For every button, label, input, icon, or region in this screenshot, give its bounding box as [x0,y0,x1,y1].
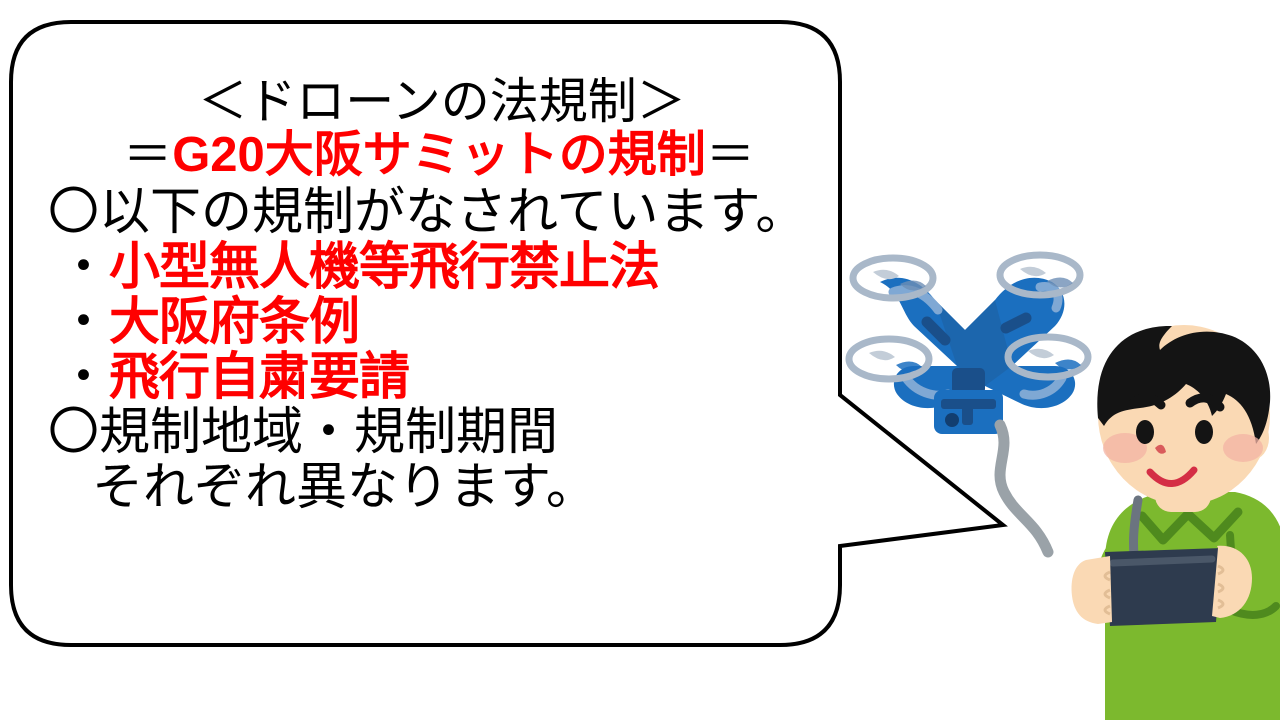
subtitle-highlight: G20大阪サミットの規制 [172,128,706,182]
slide-canvas: ＜ドローンの法規制＞ ＝G20大阪サミットの規制＝ 〇以下の規制がなされています… [0,0,1280,720]
bullet-text-2: 大阪府条例 [109,293,359,350]
bubble-title: ＜ドローンの法規制＞ [44,78,834,127]
bullet-text-1: 小型無人機等飛行禁止法 [109,238,659,295]
bubble-bullet-3: ・飛行自粛要請 [44,351,834,402]
bubble-subtitle: ＝G20大阪サミットの規制＝ [44,131,834,180]
speech-bubble-text: ＜ドローンの法規制＞ ＝G20大阪サミットの規制＝ 〇以下の規制がなされています… [44,78,834,618]
bullet-marker-1: ・ [58,238,109,295]
bubble-intro-line: 〇以下の規制がなされています。 [44,186,834,237]
subtitle-marker-left: ＝ [123,128,172,182]
bullet-text-3: 飛行自粛要請 [109,348,409,405]
subtitle-marker-right: ＝ [706,128,755,182]
bullet-marker-3: ・ [58,348,109,405]
bubble-bullet-1: ・小型無人機等飛行禁止法 [44,241,834,292]
bullet-marker-2: ・ [58,293,109,350]
bubble-bullet-2: ・大阪府条例 [44,296,834,347]
bubble-closing-line-1: 〇規制地域・規制期間 [44,406,834,457]
bubble-closing-line-2: それぞれ異なります。 [44,461,834,512]
